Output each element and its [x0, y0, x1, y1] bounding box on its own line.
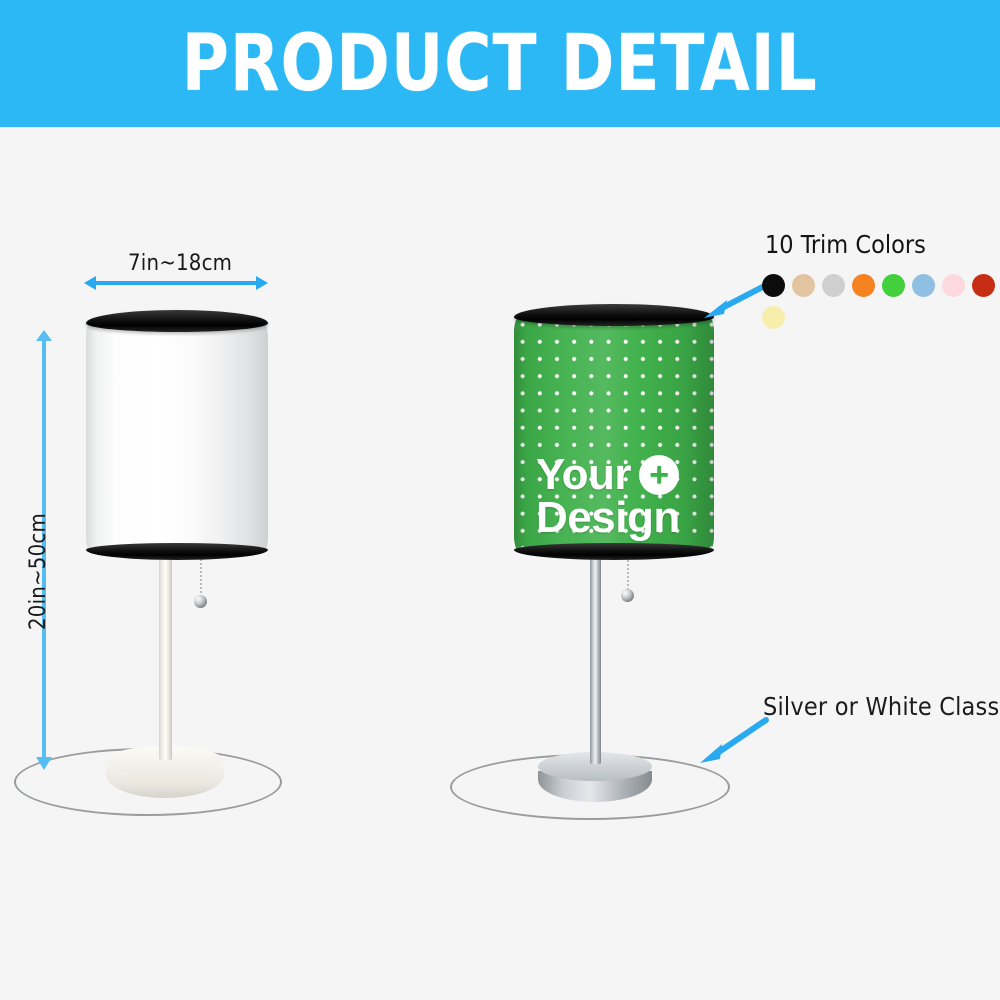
trim-swatch-orange[interactable]: [852, 274, 875, 297]
height-dimension-label: 20in~50cm: [26, 513, 51, 630]
plus-icon: +: [639, 455, 679, 495]
caption-line-1: Your: [536, 454, 631, 495]
shade-trim-bottom-white: [86, 543, 268, 560]
shade-surface-green: Your + Design: [514, 316, 714, 552]
chain-bead: [621, 589, 634, 602]
custom-print-lamp: Your + Design: [420, 0, 800, 1000]
arrow-head-down: [36, 757, 52, 770]
base-finish-pointer-arrow: [690, 716, 770, 766]
trim-swatch-yellow[interactable]: [762, 306, 785, 329]
width-dimension-label: 7in~18cm: [128, 251, 232, 276]
trim-swatch-green[interactable]: [882, 274, 905, 297]
shade-trim-top-white: [86, 310, 268, 332]
shade-trim-top-green: [514, 304, 714, 326]
arrow-shaft: [94, 281, 258, 285]
width-dimension-arrow: [84, 276, 268, 290]
trim-colors-title: 10 Trim Colors: [765, 230, 926, 259]
lampshade-white: [86, 310, 268, 560]
trim-swatch-light-blue[interactable]: [912, 274, 935, 297]
trim-swatch-red[interactable]: [972, 274, 995, 297]
arrow-head-right: [256, 276, 268, 290]
product-detail-page: PRODUCT DETAIL 7in~18cm: [0, 0, 1000, 1000]
caption-line-1-row: Your +: [536, 454, 680, 495]
trim-swatch-black[interactable]: [762, 274, 785, 297]
lamp-pole-white: [159, 556, 172, 760]
pull-chain-white: [193, 556, 207, 608]
trim-swatch-pink[interactable]: [942, 274, 965, 297]
lamp-pole-silver: [590, 552, 601, 764]
lampshade-green: Your + Design: [514, 304, 714, 560]
trim-swatch-tan[interactable]: [792, 274, 815, 297]
chain-bead: [194, 595, 207, 608]
shade-trim-bottom-green: [514, 543, 714, 560]
shade-surface-white: [86, 321, 268, 553]
shade-caption: Your + Design: [536, 454, 680, 539]
trim-swatch-light-gray[interactable]: [822, 274, 845, 297]
caption-line-2: Design: [536, 497, 680, 538]
base-finish-label: Silver or White Classy: [763, 692, 1000, 721]
